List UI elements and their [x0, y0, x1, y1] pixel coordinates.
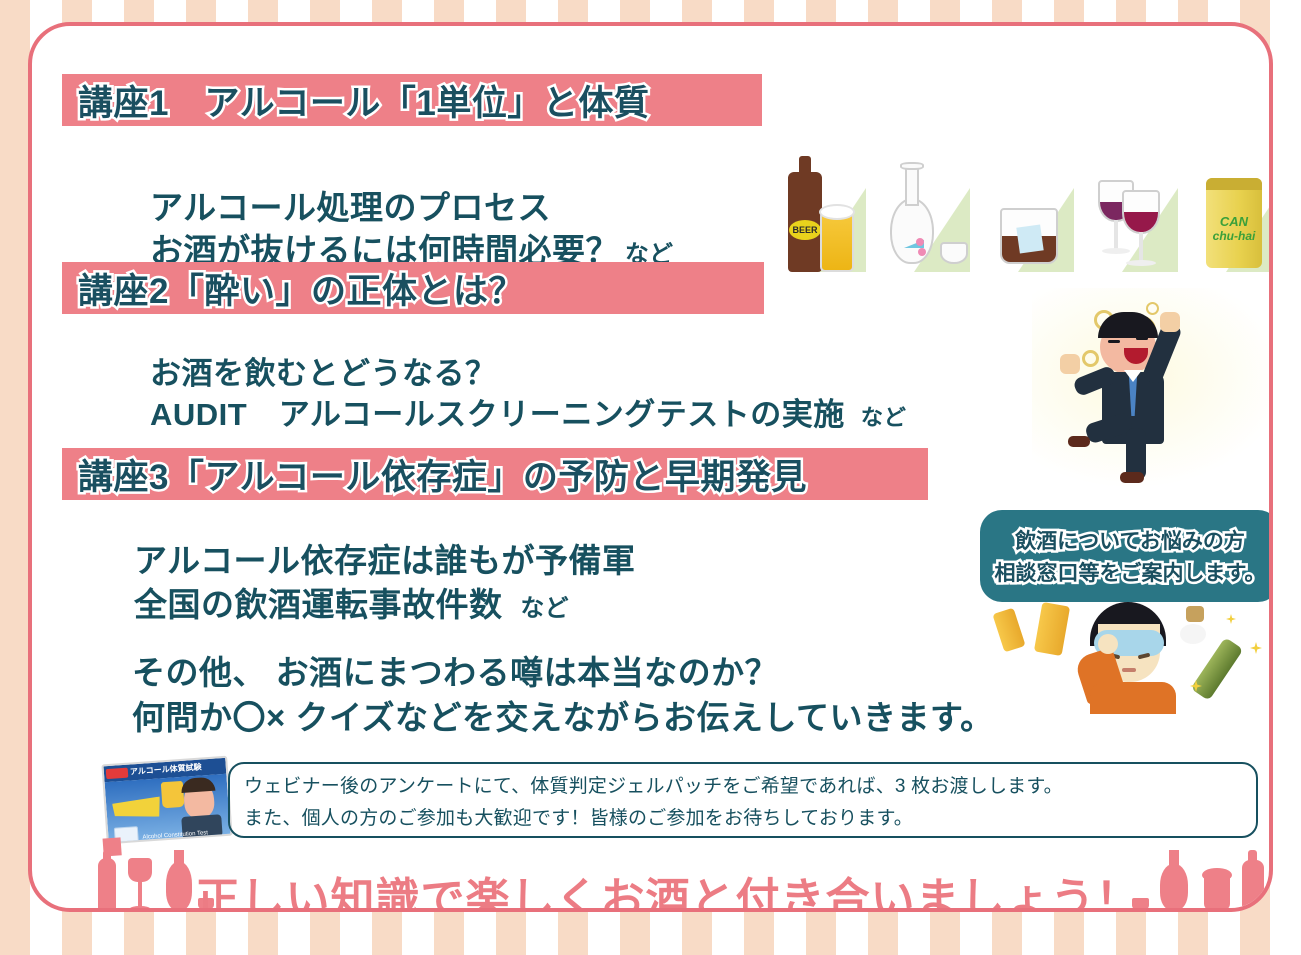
patch-card-beer	[161, 781, 185, 808]
section-2-line-1: お酒を飲むとどうなる？	[150, 348, 497, 393]
section-header-3-label: 講座3「アルコール依存症」の予防と早期発見	[78, 449, 807, 500]
poster-background: 講座1 アルコール「1単位」と体質 アルコール処理のプロセス お酒が抜けるには何…	[0, 0, 1301, 955]
consultation-speech-bubble: 飲酒についてお悩みの方 相談窓口等をご案内します。	[980, 510, 1273, 602]
section-3-line-1: アルコール依存症は誰もが予備軍	[134, 534, 636, 582]
patch-card-subtitle: Alcohol Constitution Test	[142, 830, 208, 841]
whiskey-glass	[1000, 208, 1058, 264]
patch-card-slogan	[112, 796, 161, 819]
beer-foam-silhouette-right	[1202, 868, 1232, 882]
beer-label-text: BEER	[792, 225, 817, 235]
beer-glass	[820, 214, 854, 272]
other-note-line-2: 何問か〇× クイズなどを交えながらお伝えしていきます。	[132, 691, 994, 739]
drunk-businessman-illustration	[1032, 288, 1273, 486]
wine-glass-back-stem	[1114, 220, 1118, 250]
wine-glass-silhouette-left-foot	[130, 906, 150, 911]
beer-bottle-neck	[799, 156, 811, 178]
patch-card-body: Alcohol Constitution Test	[105, 774, 231, 844]
survey-info-box: ウェビナー後のアンケートにて、体質判定ジェルパッチをご希望であれば、3 枚お渡し…	[228, 762, 1258, 838]
section-header-1-label: 講座1 アルコール「1単位」と体質	[78, 75, 649, 126]
sake-cup	[940, 242, 968, 264]
chuhai-can-top	[1206, 178, 1262, 190]
slogan-text: 正しい知識で楽しくお酒と付き合いましょう！	[228, 862, 1108, 912]
poster-card: 講座1 アルコール「1単位」と体質 アルコール処理のプロセス お酒が抜けるには何…	[28, 22, 1273, 912]
wine-front-liquid	[1124, 212, 1158, 232]
businessman-hand-left	[1060, 354, 1080, 374]
businessman-shoe-left	[1068, 436, 1090, 447]
bubble-ring-3	[1082, 350, 1099, 367]
info-line-1: ウェビナー後のアンケートにて、体質判定ジェルパッチをご希望であれば、3 枚お渡し…	[244, 771, 1242, 798]
businessman-eye-left	[1108, 340, 1120, 343]
champagne-foam	[1180, 624, 1206, 644]
sake-flower-1	[916, 238, 924, 246]
bottle-silhouette-left-1	[98, 858, 116, 912]
sake-silhouette-right	[1160, 864, 1188, 910]
sake-illustration	[878, 154, 974, 272]
section-2-line-2-text: AUDIT アルコールスクリーニングテストの実施	[150, 389, 845, 434]
hungover-person-illustration	[994, 594, 1272, 714]
bubble-line-1: 飲酒についてお悩みの方	[1015, 525, 1245, 555]
bottle-silhouette-left-1-neck	[103, 850, 111, 864]
sake-silhouette-left-neck	[174, 850, 184, 868]
hungover-mouth	[1122, 668, 1136, 672]
section-2-line-2: AUDIT アルコールスクリーニングテストの実施 など	[150, 389, 906, 434]
whiskey-ice	[1016, 224, 1043, 253]
businessman-hand-right	[1160, 312, 1180, 332]
chuhai-label-top: CAN	[1220, 214, 1248, 229]
champagne-cork	[1186, 606, 1204, 622]
sake-bottle-body	[890, 198, 934, 264]
bottle-silhouette-right	[1242, 860, 1264, 910]
section-3-nado: など	[521, 588, 570, 623]
beer-foam	[819, 204, 855, 220]
bottle-silhouette-right-neck	[1248, 850, 1257, 866]
bubble-ring-4	[1146, 302, 1159, 315]
wine-glass-silhouette-left	[128, 858, 152, 882]
chuhai-can-body: CAN chu-hai	[1206, 178, 1262, 268]
wine-illustration	[1086, 154, 1182, 272]
chuhai-can-label: CAN chu-hai	[1210, 208, 1258, 248]
beer-can-1	[992, 608, 1025, 653]
sake-silhouette-left	[166, 862, 192, 910]
wine-glass-front-bowl	[1122, 190, 1160, 234]
drink-illustrations: BEER	[774, 154, 1273, 272]
whiskey-illustration	[982, 154, 1078, 272]
chuhai-label-bottom: chu-hai	[1213, 229, 1256, 243]
wine-glass-silhouette-left-stem	[138, 880, 142, 908]
patch-card-title: アルコール体質試験	[130, 762, 202, 778]
sparkle-1	[1226, 614, 1236, 624]
champagne-bottle	[1191, 637, 1244, 701]
sake-silhouette-right-neck	[1169, 850, 1179, 870]
sparkle-2	[1250, 642, 1262, 654]
sake-flower-2	[918, 248, 926, 256]
section-header-3: 講座3「アルコール依存症」の予防と早期発見	[62, 448, 928, 500]
other-note-line-1: その他、 お酒にまつわる噂は本当なのか？	[132, 646, 778, 694]
patch-card-badge	[106, 768, 129, 780]
section-header-2-label: 講座2「酔い」の正体とは？	[78, 263, 524, 314]
sake-bottle-lip	[900, 162, 924, 170]
info-line-2: また、個人の方のご参加も大歓迎です！皆様のご参加をお待ちしております。	[244, 803, 1242, 830]
section-header-1: 講座1 アルコール「1単位」と体質	[62, 74, 762, 126]
wine-glass-front-stem	[1139, 232, 1143, 262]
section-header-2: 講座2「酔い」の正体とは？	[62, 262, 764, 314]
businessman-shoe-right	[1120, 472, 1144, 483]
chuhai-illustration: CAN chu-hai	[1190, 154, 1273, 272]
section-3-line-2: 全国の飲酒運転事故件数 など	[134, 578, 569, 626]
wine-glass-front-foot	[1126, 260, 1156, 266]
section-1-line-1: アルコール処理のプロセス	[150, 181, 551, 229]
beer-illustration: BEER	[774, 154, 870, 272]
patch-test-card-image: アルコール体質試験 Alcohol Constitution Test	[101, 756, 232, 845]
beer-bottle-label: BEER	[789, 220, 821, 240]
hungover-hand	[1098, 634, 1118, 654]
beer-can-2	[1034, 602, 1070, 656]
businessman-eye-right	[1136, 337, 1148, 340]
section-3-line-2-text: 全国の飲酒運転事故件数	[134, 578, 503, 626]
section-2-nado: など	[861, 400, 907, 432]
wine-glass-back-foot	[1102, 248, 1130, 254]
patch-card-hair	[181, 777, 216, 793]
bubble-line-2: 相談窓口等をご案内します。	[995, 557, 1266, 587]
sake-bottle-neck	[905, 166, 919, 206]
hungover-shirt	[1090, 682, 1176, 714]
